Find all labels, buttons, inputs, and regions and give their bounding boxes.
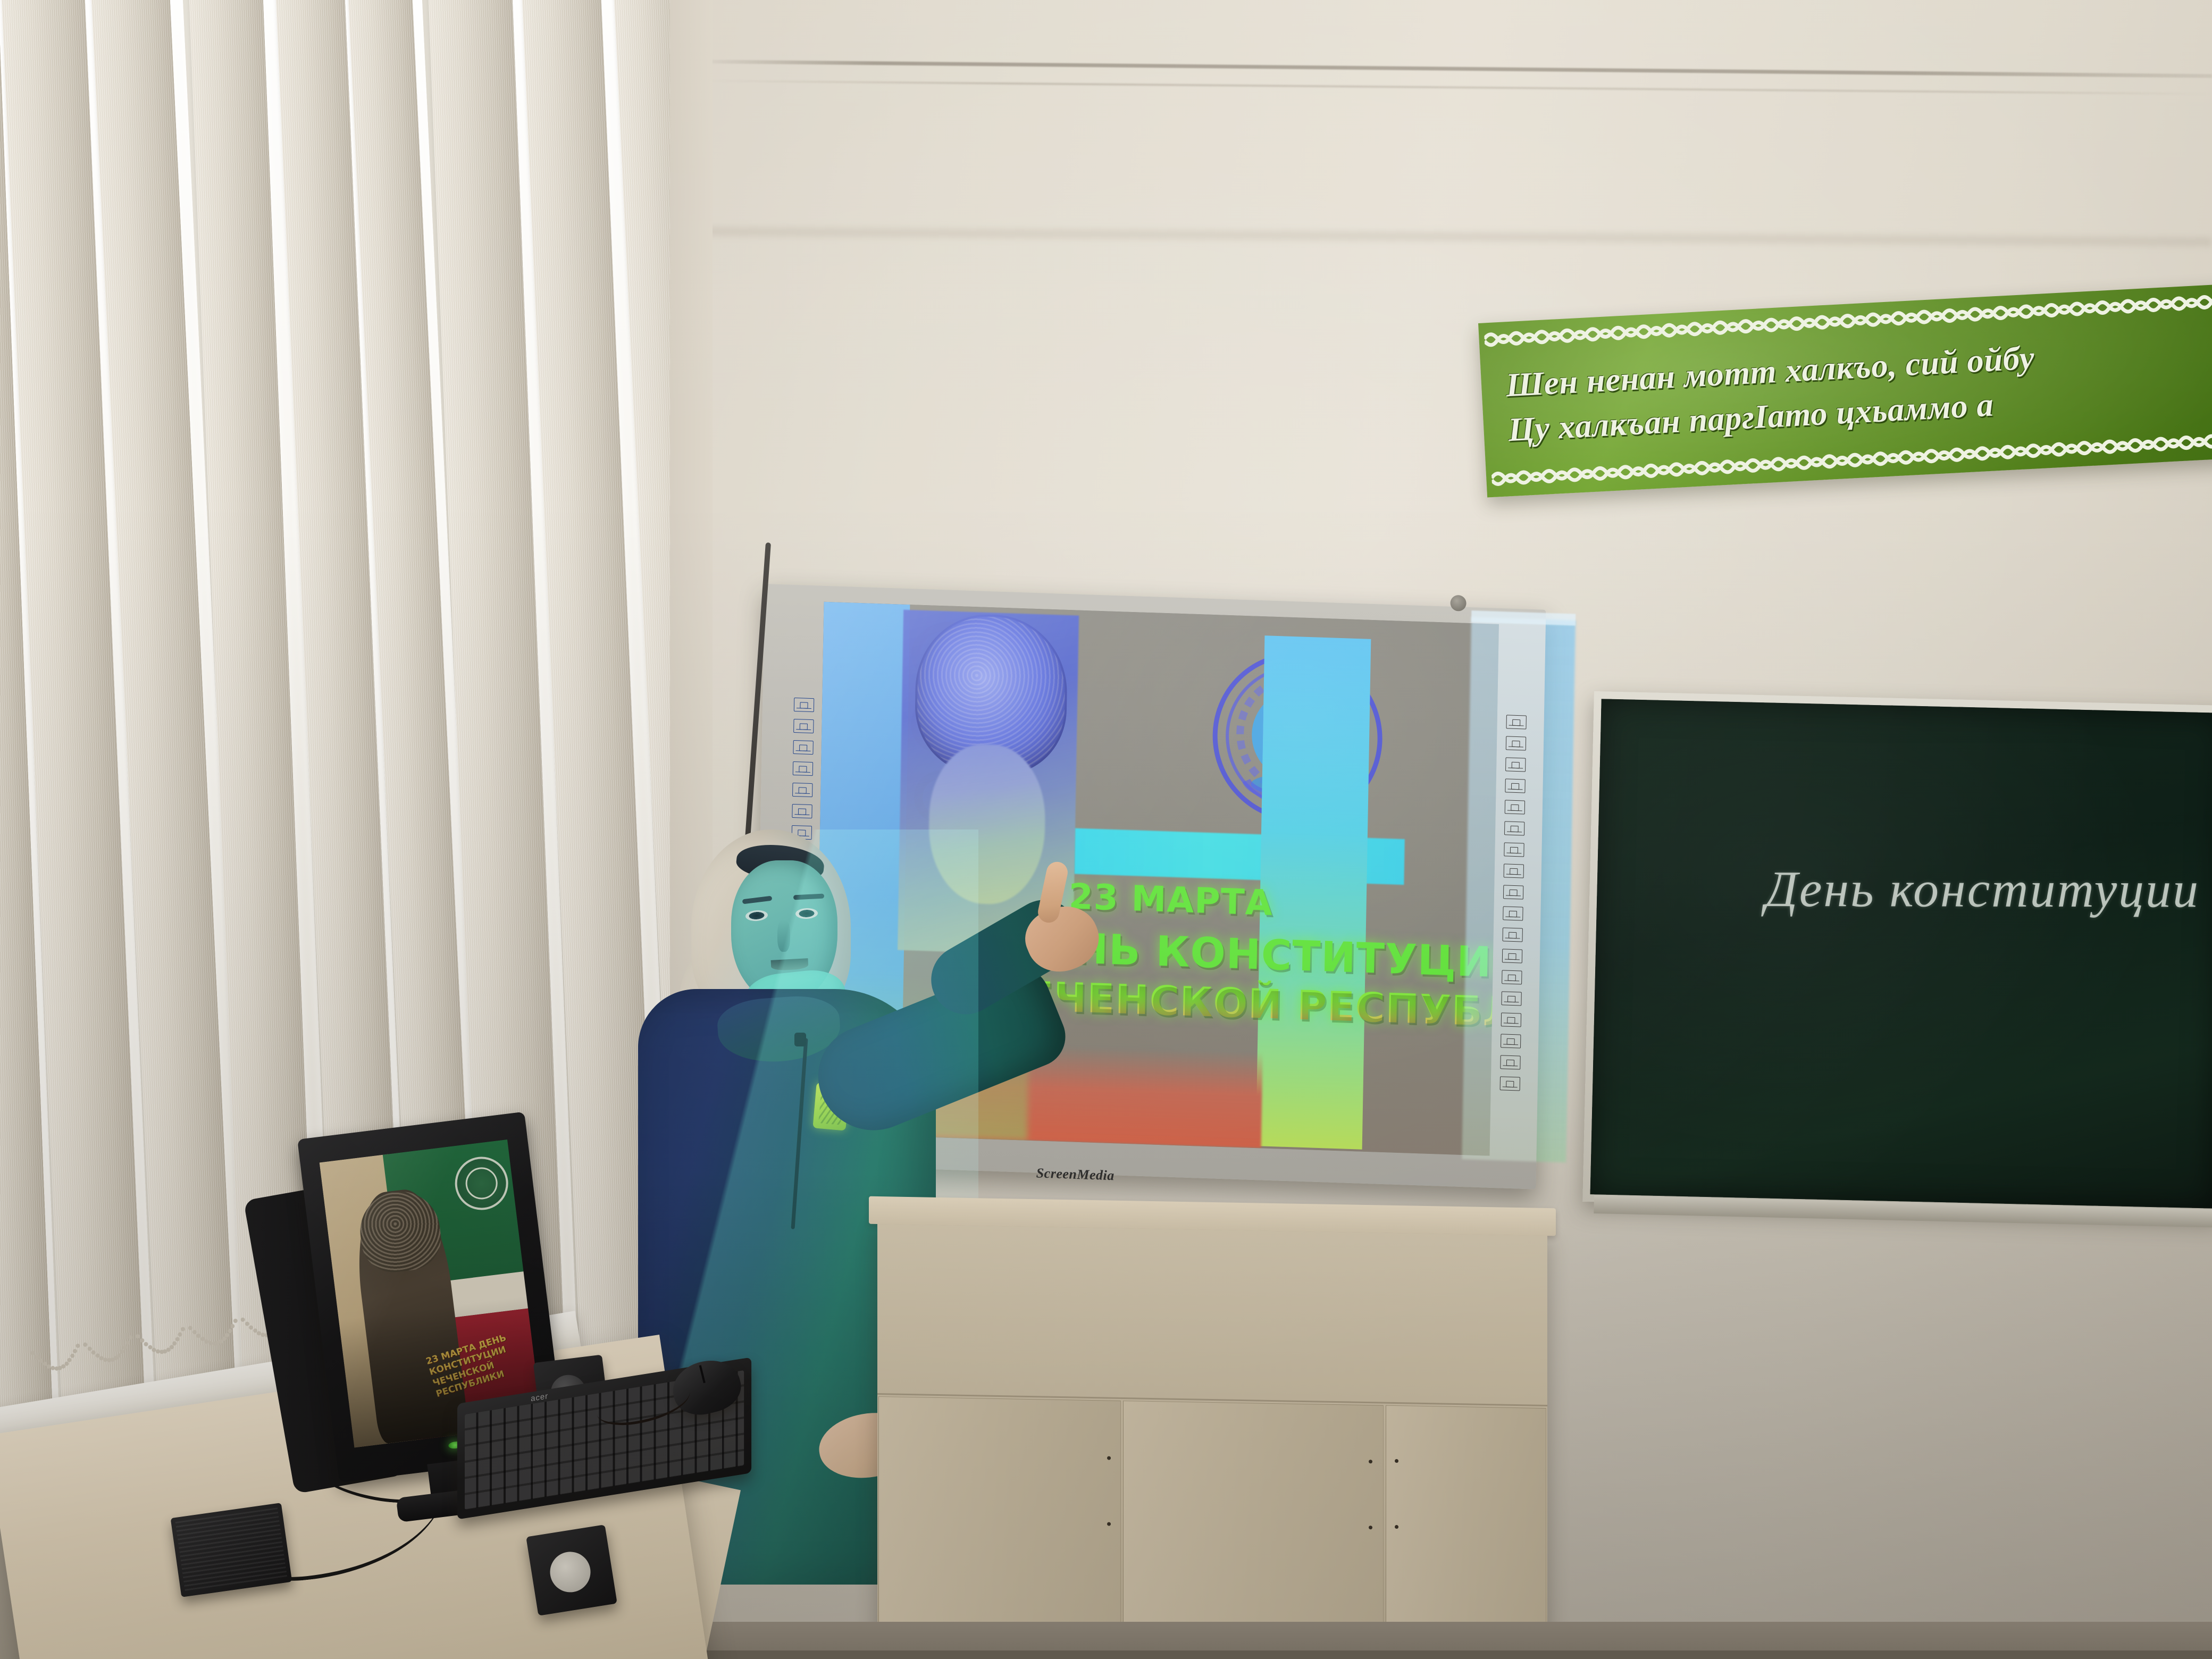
- storage-cabinet[interactable]: [877, 1219, 1547, 1659]
- record-icon[interactable]: [794, 698, 814, 712]
- chain-bead: [240, 1317, 245, 1322]
- rotate-icon[interactable]: [1501, 1034, 1521, 1048]
- tool-glyph: [798, 808, 806, 815]
- redo-icon[interactable]: [1502, 970, 1522, 984]
- cabinet-door-left[interactable]: [878, 1396, 1121, 1656]
- door-hole: [1395, 1459, 1398, 1463]
- cloud-icon[interactable]: [1501, 1012, 1521, 1027]
- tool-glyph: [1511, 805, 1519, 811]
- whiteboard-brand-label: ScreenMedia: [1036, 1165, 1115, 1184]
- chain-bead: [233, 1318, 238, 1323]
- scissors-icon[interactable]: [1504, 821, 1524, 835]
- chain-bead: [139, 1338, 144, 1343]
- tool-glyph: [1510, 847, 1518, 853]
- door-hole: [1395, 1525, 1398, 1529]
- tool-glyph: [1506, 1081, 1514, 1087]
- tool-glyph: [1509, 911, 1517, 917]
- chain-bead: [125, 1340, 130, 1345]
- pen-icon[interactable]: [793, 761, 813, 776]
- cabinet-door-right[interactable]: [1386, 1405, 1546, 1659]
- desktop-speaker: [526, 1524, 617, 1616]
- chain-bead: [73, 1348, 78, 1353]
- chain-bead: [67, 1358, 72, 1362]
- record-icon[interactable]: [1506, 715, 1526, 729]
- tool-glyph: [800, 702, 808, 708]
- nose: [777, 920, 790, 952]
- chain-bead: [87, 1346, 92, 1351]
- tool-glyph: [1512, 741, 1520, 747]
- chain-bead: [39, 1358, 44, 1363]
- door-hole: [1107, 1522, 1111, 1526]
- home-icon[interactable]: [1506, 736, 1526, 750]
- curtain-icon[interactable]: [1502, 927, 1522, 942]
- cabinet-door-middle[interactable]: [1123, 1401, 1384, 1659]
- chain-bead: [128, 1335, 133, 1340]
- chain-bead: [224, 1333, 229, 1337]
- tool-glyph: [1512, 762, 1520, 768]
- tool-glyph: [1511, 826, 1519, 832]
- target-icon[interactable]: [1500, 1055, 1520, 1069]
- tool-glyph: [1512, 719, 1520, 726]
- chain-bead: [180, 1327, 185, 1331]
- tool-glyph: [1508, 975, 1516, 981]
- scissors-icon[interactable]: [792, 804, 812, 818]
- present-icon[interactable]: [1500, 1076, 1520, 1091]
- pen-icon[interactable]: [1505, 778, 1525, 793]
- cabinet-upper-panel: [877, 1224, 1547, 1406]
- tool-glyph: [1509, 932, 1516, 939]
- whiteboard-mount: [1450, 595, 1467, 611]
- chain-bead: [192, 1329, 197, 1334]
- slide-date-text: 23 МАРТА: [1068, 876, 1273, 924]
- undo-icon[interactable]: [793, 740, 813, 755]
- tool-glyph: [1507, 1038, 1515, 1045]
- highlighter-icon[interactable]: [792, 783, 812, 797]
- door-hole: [1107, 1456, 1111, 1460]
- slide-vertical-band: [1256, 635, 1371, 1149]
- chalkboard-surface[interactable]: [1590, 699, 2212, 1208]
- chalkboard[interactable]: День конституции: [1582, 691, 2212, 1216]
- tool-glyph: [800, 723, 808, 730]
- tool-glyph: [1507, 996, 1515, 1002]
- chain-bead: [122, 1345, 127, 1350]
- chain-bead: [70, 1353, 74, 1358]
- banner-text: Шен ненан мотт халкъо, сий ойбу Цу халкъ…: [1505, 325, 2212, 453]
- tool-glyph: [1507, 1017, 1515, 1024]
- power-adapter: [171, 1503, 292, 1597]
- door-hole: [1369, 1460, 1372, 1463]
- cursor-icon[interactable]: [1501, 991, 1521, 1006]
- tool-glyph: [799, 766, 807, 772]
- chain-bead: [135, 1334, 140, 1339]
- eraser-icon[interactable]: [1502, 949, 1522, 963]
- zipper-pull: [794, 1033, 806, 1046]
- tool-glyph: [1511, 783, 1519, 790]
- door-hole: [1369, 1526, 1372, 1529]
- chain-bead: [178, 1332, 182, 1337]
- chain-bead: [120, 1349, 124, 1354]
- chain-bead: [30, 1351, 35, 1355]
- tool-glyph: [1509, 890, 1517, 896]
- shape-icon[interactable]: [1504, 842, 1524, 857]
- chain-bead: [175, 1337, 180, 1342]
- spotlight-icon[interactable]: [1503, 885, 1523, 899]
- highlighter-icon[interactable]: [1505, 800, 1525, 814]
- home-icon[interactable]: [793, 719, 814, 733]
- chain-bead: [230, 1323, 235, 1328]
- chain-bead: [83, 1342, 88, 1347]
- tool-glyph: [1510, 868, 1518, 875]
- tool-glyph: [799, 744, 807, 751]
- chalkboard-text: День конституции: [1765, 859, 2200, 919]
- tool-glyph: [1508, 953, 1516, 960]
- chain-bead: [228, 1328, 232, 1333]
- tool-glyph: [1506, 1060, 1514, 1066]
- chain-bead: [188, 1326, 192, 1330]
- undo-icon[interactable]: [1505, 757, 1526, 772]
- classroom-photo: Шен ненан мотт халкъо, сий ойбу Цу халкъ…: [0, 0, 2212, 1659]
- screen-icon[interactable]: [1503, 906, 1523, 920]
- chain-bead: [172, 1341, 177, 1346]
- chain-bead: [35, 1354, 39, 1359]
- chain-bead: [245, 1321, 249, 1326]
- image-icon[interactable]: [1504, 864, 1524, 878]
- tool-glyph: [799, 787, 807, 793]
- floor-shadow: [627, 1650, 2212, 1659]
- chain-bead: [76, 1343, 80, 1348]
